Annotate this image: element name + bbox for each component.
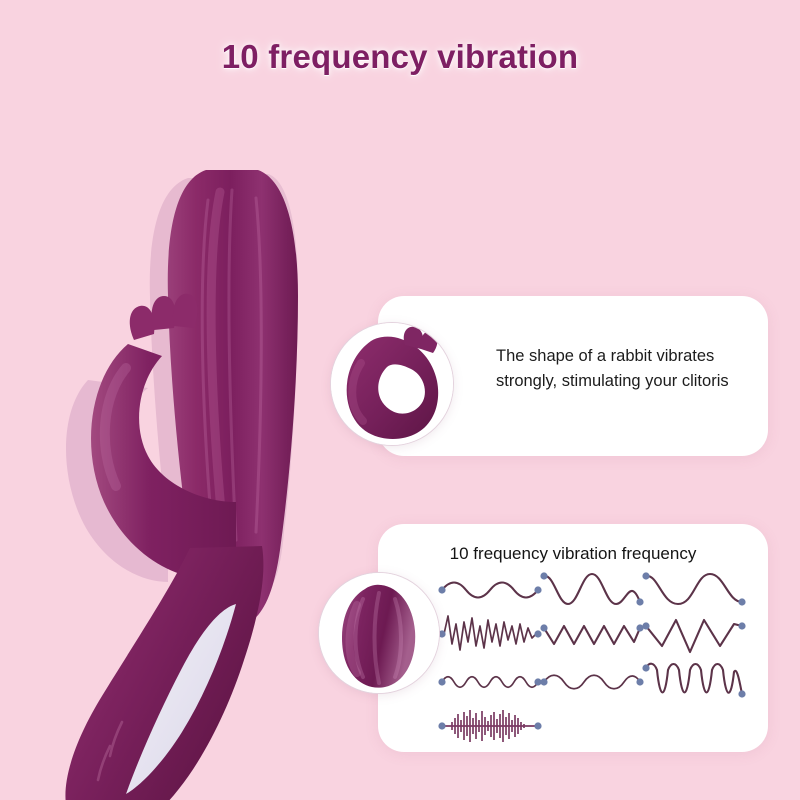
waveform-mode-4 [434,612,546,656]
page-title: 10 frequency vibration [0,38,800,76]
vibration-modes-title: 10 frequency vibration frequency [378,544,768,564]
rabbit-feature-line-2: strongly, stimulating your clitoris [496,372,729,390]
waveform-mode-10 [434,704,546,748]
rabbit-feature-text: The shape of a rabbit vibrates strongly,… [496,344,758,394]
rabbit-feature-line-1: The shape of a rabbit vibrates [496,347,714,365]
waveform-mode-3 [638,568,750,612]
waveform-mode-9 [638,660,750,704]
product-handle [65,546,263,800]
product-marketing-page: 10 frequency vibration [0,0,800,800]
product-image [30,130,370,780]
shaft-closeup-inset [318,572,440,694]
waveform-mode-8 [536,660,648,704]
waveform-mode-6 [638,612,750,656]
waveform-mode-7 [434,660,546,704]
rabbit-closeup-inset [330,322,454,446]
waveform-mode-2 [536,568,648,612]
waveform-mode-5 [536,612,648,656]
waveform-mode-1 [434,568,546,612]
waveform-grid [396,568,750,744]
